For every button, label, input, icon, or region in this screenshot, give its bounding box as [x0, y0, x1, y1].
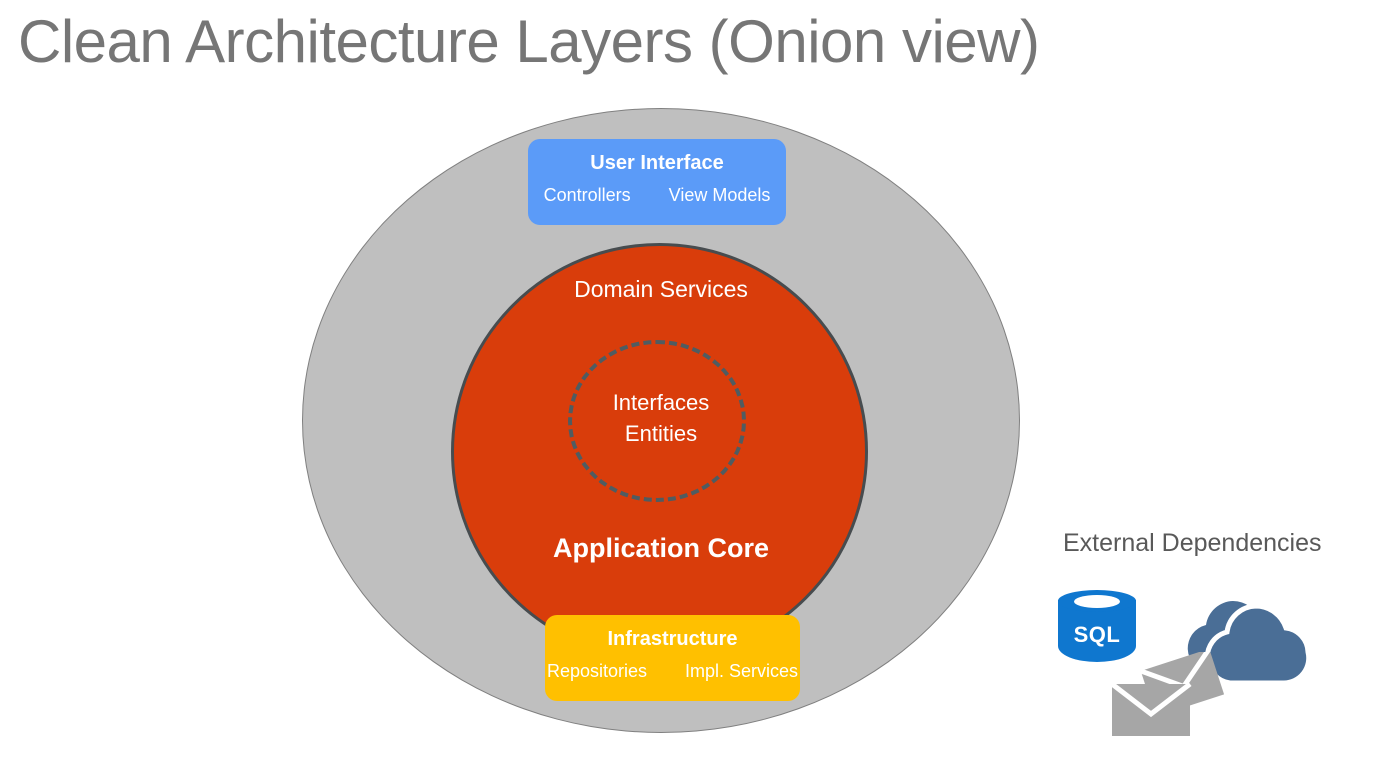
onion-diagram: Domain Services Interfaces Entities Appl… [300, 106, 1022, 736]
infrastructure-items: Repositories Impl. Services [545, 661, 800, 682]
external-dependencies-icons: SQL [1050, 580, 1350, 750]
page-title: Clean Architecture Layers (Onion view) [18, 6, 1039, 78]
domain-services-label: Domain Services [300, 276, 1022, 303]
sql-cylinder-hole [1074, 595, 1120, 608]
user-interface-layer-box[interactable]: User Interface Controllers View Models [528, 139, 786, 225]
user-interface-item-controllers: Controllers [544, 185, 631, 206]
user-interface-items: Controllers View Models [528, 185, 786, 206]
entities-label: Entities [300, 418, 1022, 449]
sql-icon-label: SQL [1058, 622, 1136, 648]
infrastructure-item-impl-services: Impl. Services [685, 661, 798, 682]
infrastructure-title: Infrastructure [545, 625, 800, 653]
external-dependencies-label: External Dependencies [1063, 529, 1322, 558]
email-icon [1108, 652, 1236, 742]
user-interface-item-view-models: View Models [669, 185, 771, 206]
inner-core-labels: Interfaces Entities [300, 387, 1022, 449]
user-interface-title: User Interface [528, 149, 786, 177]
application-core-label: Application Core [300, 533, 1022, 564]
interfaces-label: Interfaces [300, 387, 1022, 418]
infrastructure-layer-box[interactable]: Infrastructure Repositories Impl. Servic… [545, 615, 800, 701]
infrastructure-item-repositories: Repositories [547, 661, 647, 682]
